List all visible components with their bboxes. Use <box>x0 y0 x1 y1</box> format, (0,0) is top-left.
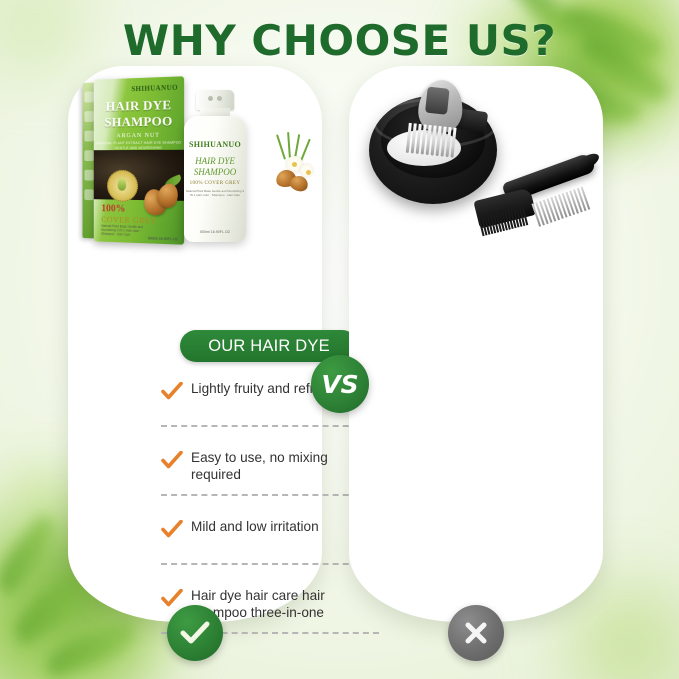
product-box-variant: ARGAN NUT <box>94 132 184 139</box>
list-separator <box>161 494 379 496</box>
bottle-volume: 500ml 16.90FL.OZ <box>184 230 246 234</box>
vs-badge: VS <box>311 355 369 413</box>
bottle-claim: 100% COVER GREY <box>184 181 246 186</box>
bottle-fine-print: Natural Plant Base Gentle and Nourishing… <box>184 189 246 197</box>
check-circle-icon <box>167 605 223 661</box>
argan-nut-icon <box>138 177 182 222</box>
product-box-front: SHIHUANUO HAIR DYE SHAMPOO ARGAN NUT NAT… <box>94 76 184 245</box>
check-icon <box>161 516 191 538</box>
our-hair-dye-badge-label: OUR HAIR DYE <box>208 337 330 356</box>
vs-label: VS <box>321 370 358 399</box>
page-title: WHY CHOOSE US? <box>0 16 679 65</box>
list-item-label: Hair dye hair care hair shampoo three-in… <box>191 585 379 621</box>
plant-decoration <box>274 132 320 188</box>
flower-icon <box>300 164 313 177</box>
product-box-fine-print: Natural Plant Base Gentle and Nourishing… <box>101 224 148 238</box>
list-separator <box>161 425 379 427</box>
check-icon <box>161 585 191 607</box>
infographic-root: WHY CHOOSE US? SHIHUANUO HAIR DYE SHAMPO… <box>0 0 679 679</box>
list-item-label: Mild and low irritation <box>191 516 319 535</box>
product-box-brand: SHIHUANUO <box>131 84 178 94</box>
product-bottle: SHIHUANUO HAIR DYE SHAMPOO 100% COVER GR… <box>180 90 250 242</box>
product-box-title-line1: HAIR DYE <box>94 97 184 115</box>
bottle-title-line2: SHAMPOO <box>184 167 246 177</box>
hair-dye-tools <box>349 66 603 256</box>
our-product-image: SHIHUANUO HAIR DYE SHAMPOO ARGAN NUT NAT… <box>68 66 322 256</box>
product-box-volume: 500ml 16.90FL.OZ <box>148 236 178 241</box>
product-seal-icon <box>107 170 138 202</box>
product-box-claim-percent: 100% <box>101 203 125 214</box>
our-hair-dye-card: SHIHUANUO HAIR DYE SHAMPOO ARGAN NUT NAT… <box>68 66 322 622</box>
bottle-cap <box>196 90 234 110</box>
traditional-product-image <box>349 66 603 256</box>
applicator-comb-icon <box>407 77 472 168</box>
check-icon <box>161 447 191 469</box>
bottle-brand: SHIHUANUO <box>184 140 246 149</box>
check-icon <box>161 378 191 400</box>
x-circle-icon <box>448 605 504 661</box>
list-item: Mild and low irritation <box>161 516 379 554</box>
product-box-title-line2: SHAMPOO <box>94 113 184 131</box>
tint-brush-icon <box>464 153 601 246</box>
bottle-title-line1: HAIR DYE <box>184 156 246 166</box>
list-item: Easy to use, no mixing required <box>161 447 379 485</box>
list-separator <box>161 563 379 565</box>
traditional-hair-dye-card: TRADITIONAL HAIR DYE Smells bad and irri… <box>349 66 603 622</box>
bottle-body: SHIHUANUO HAIR DYE SHAMPOO 100% COVER GR… <box>184 116 246 242</box>
product-box: SHIHUANUO HAIR DYE SHAMPOO ARGAN NUT NAT… <box>94 76 184 245</box>
comb-teeth <box>531 185 595 230</box>
